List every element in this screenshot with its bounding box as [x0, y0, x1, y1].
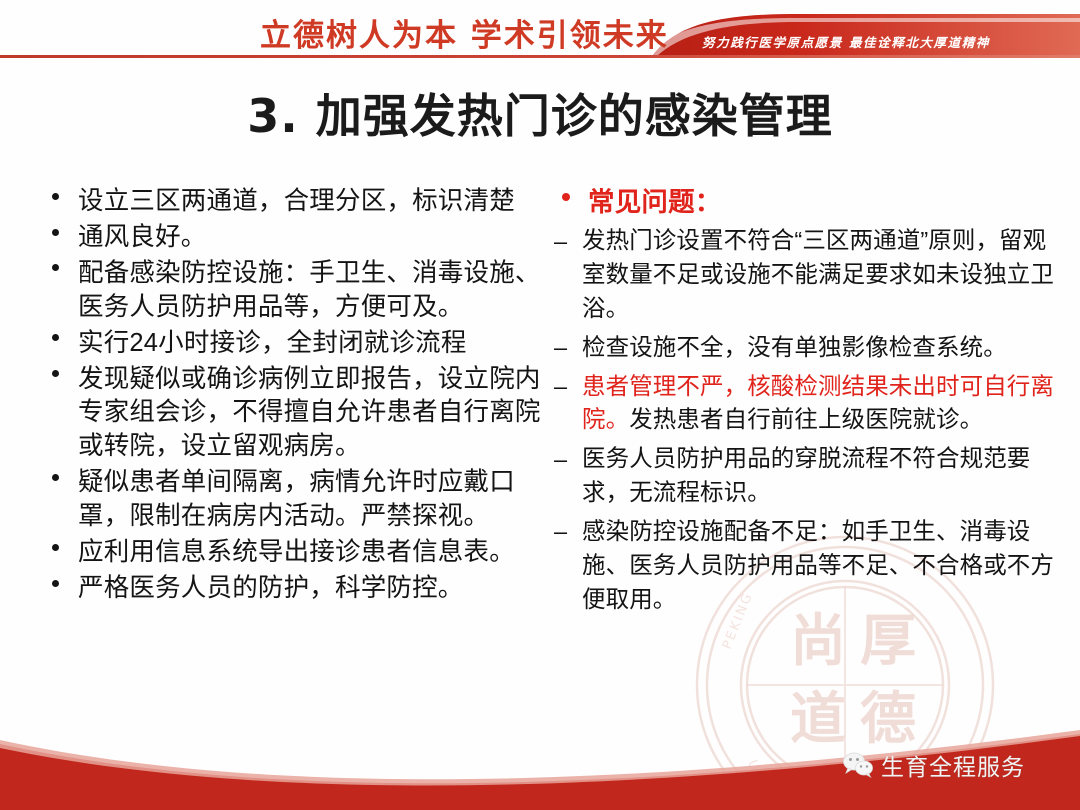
left-column: 设立三区两通道，合理分区，标识清楚 通风良好。 配备感染防控设施：手卫生、消毒设…: [42, 185, 542, 608]
header-ribbon-shape: [640, 0, 1080, 62]
list-item-text: 严格医务人员的防护，科学防控。: [78, 574, 464, 602]
dash-bullet-icon: –: [554, 225, 567, 259]
bullet-dot-icon: [52, 580, 59, 587]
bullet-dot-icon: [52, 370, 59, 377]
list-item: – 医务人员防护用品的穿脱流程不符合规范要求，无流程标识。: [552, 442, 1054, 510]
list-item: 配备感染防控设施：手卫生、消毒设施、医务人员防护用品等，方便可及。: [42, 257, 542, 325]
list-item-text: 疑似患者单间隔离，病情允许时应戴口罩，限制在病房内活动。严禁探视。: [78, 468, 515, 530]
slide-header: 立德树人为本 学术引领未来 努力践行医学原点愿景 最佳诠释北大厚道精神: [0, 0, 1080, 62]
list-item-text: 实行24小时接诊，全封闭就诊流程: [78, 329, 467, 357]
list-item-text: 检查设施不全，没有单独影像检查系统。: [582, 334, 1007, 360]
list-item: 疑似患者单间隔离，病情允许时应戴口罩，限制在病房内活动。严禁探视。: [42, 466, 542, 534]
bullet-dot-icon: [52, 474, 59, 481]
dash-bullet-icon: –: [554, 443, 567, 477]
right-bullet-list: 常见问题：: [552, 185, 1054, 220]
list-item: 发现疑似或确诊病例立即报告，设立院内专家组会诊，不得擅自允许患者自行离院或转院，…: [42, 363, 542, 465]
list-item: – 发热门诊设置不符合“三区两通道”原则，留观室数量不足或设施不能满足要求如未设…: [552, 224, 1054, 325]
common-problems-heading-text: 常见问题：: [588, 187, 722, 217]
slide-body: 设立三区两通道，合理分区，标识清楚 通风良好。 配备感染防控设施：手卫生、消毒设…: [0, 185, 1080, 765]
list-item: 设立三区两通道，合理分区，标识清楚: [42, 185, 542, 219]
slide-canvas: 立德树人为本 学术引领未来 努力践行医学原点愿景 最佳诠释北大厚道精神 3. 加…: [0, 0, 1080, 810]
list-item-text: 配备感染防控设施：手卫生、消毒设施、医务人员防护用品等，方便可及。: [78, 259, 541, 321]
list-item: 通风良好。: [42, 221, 542, 255]
bullet-dot-icon: [562, 193, 570, 201]
common-problems-heading: 常见问题：: [552, 185, 1054, 220]
bullet-dot-icon: [52, 334, 59, 341]
list-item-text: 感染防控设施配备不足：如手卫生、消毒设施、医务人员防护用品等不足、不合格或不方便…: [582, 518, 1054, 612]
list-item-text: 医务人员防护用品的穿脱流程不符合规范要求，无流程标识。: [582, 445, 1030, 505]
header-slogan: 立德树人为本 学术引领未来: [260, 10, 669, 55]
bullet-dot-icon: [52, 193, 59, 200]
bullet-dot-icon: [52, 229, 59, 236]
list-item-text: 发热患者自行前往上级医院就诊。: [629, 406, 983, 432]
list-item: 严格医务人员的防护，科学防控。: [42, 572, 542, 606]
right-column: 常见问题： – 发热门诊设置不符合“三区两通道”原则，留观室数量不足或设施不能满…: [552, 185, 1054, 621]
list-item: 应利用信息系统导出接诊患者信息表。: [42, 536, 542, 570]
list-item-text: 设立三区两通道，合理分区，标识清楚: [78, 187, 515, 215]
dash-bullet-icon: –: [554, 515, 567, 549]
list-item-text: 应利用信息系统导出接诊患者信息表。: [78, 538, 515, 566]
list-item: – 检查设施不全，没有单独影像检查系统。: [552, 331, 1054, 365]
list-item: – 感染防控设施配备不足：如手卫生、消毒设施、医务人员防护用品等不足、不合格或不…: [552, 515, 1054, 616]
list-item-text: 发现疑似或确诊病例立即报告，设立院内专家组会诊，不得擅自允许患者自行离院或转院，…: [78, 365, 541, 461]
list-item-text: 通风良好。: [78, 223, 207, 251]
header-divider-rule: [0, 55, 1080, 58]
header-ribbon-slogan: 努力践行医学原点愿景 最佳诠释北大厚道精神: [702, 32, 990, 51]
list-item: 实行24小时接诊，全封闭就诊流程: [42, 327, 542, 361]
left-bullet-list: 设立三区两通道，合理分区，标识清楚 通风良好。 配备感染防控设施：手卫生、消毒设…: [42, 185, 542, 606]
dash-bullet-icon: –: [554, 370, 567, 404]
dash-bullet-icon: –: [554, 331, 567, 365]
page-title: 3. 加强发热门诊的感染管理: [0, 80, 1080, 146]
right-sub-list: – 发热门诊设置不符合“三区两通道”原则，留观室数量不足或设施不能满足要求如未设…: [552, 224, 1054, 616]
list-item-text: 发热门诊设置不符合“三区两通道”原则，留观室数量不足或设施不能满足要求如未设独立…: [582, 227, 1054, 321]
list-item: – 患者管理不严，核酸检测结果未出时可自行离院。发热患者自行前往上级医院就诊。: [552, 370, 1054, 438]
bullet-dot-icon: [52, 264, 59, 271]
bullet-dot-icon: [52, 544, 59, 551]
